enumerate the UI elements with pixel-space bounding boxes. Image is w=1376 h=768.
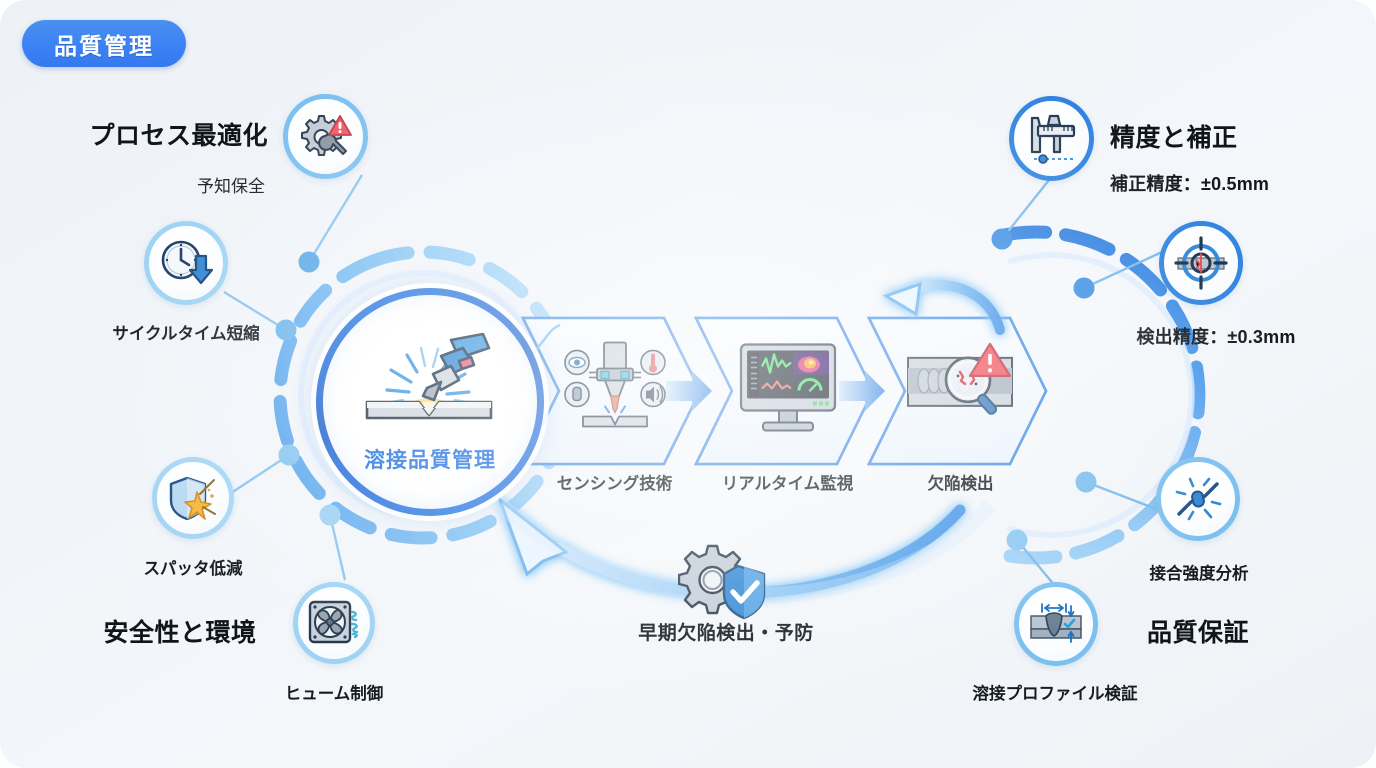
left-node-label-2: スパッタ低減 bbox=[144, 555, 243, 579]
satellite-detection-target[interactable] bbox=[1159, 221, 1243, 305]
feedback-node[interactable] bbox=[678, 544, 770, 622]
infographic-canvas: 品質管理 bbox=[0, 0, 1376, 768]
monitor-dashboard-icon bbox=[735, 341, 841, 437]
gear-shield-check-icon bbox=[678, 544, 770, 622]
right-heading-quality: 品質保証 bbox=[1147, 613, 1249, 649]
left-node-label-0: 予知保全 bbox=[197, 172, 265, 197]
crosshair-target-icon bbox=[1172, 234, 1230, 292]
right-node-label-chain: 接合強度分析 bbox=[1150, 560, 1249, 584]
satellite-weld-profile[interactable] bbox=[1014, 582, 1098, 666]
satellite-predictive-maintenance[interactable] bbox=[283, 94, 368, 179]
category-badge-label: 品質管理 bbox=[54, 27, 154, 61]
left-heading-safety: 安全性と環境 bbox=[103, 613, 256, 649]
sensor-head-icon bbox=[561, 338, 669, 434]
caliper-icon bbox=[1024, 112, 1080, 166]
flow-label-defect: 欠陥検出 bbox=[928, 470, 994, 494]
left-node-label-1: サイクルタイム短縮 bbox=[112, 320, 259, 344]
satellite-spatter-reduction[interactable] bbox=[152, 457, 234, 539]
fan-fume-icon bbox=[306, 598, 362, 648]
weld-profile-icon bbox=[1027, 598, 1085, 650]
left-heading-process: プロセス最適化 bbox=[89, 116, 268, 152]
flow-step-defect-detection[interactable]: 欠陥検出 bbox=[875, 318, 1046, 464]
feedback-label: 早期欠陥検出・予防 bbox=[638, 618, 814, 645]
right-node-label-profile: 溶接プロファイル検証 bbox=[973, 680, 1138, 704]
spec-correction-accuracy: 補正精度：±0.5mm bbox=[1110, 170, 1269, 196]
gear-wrench-alert-icon bbox=[299, 110, 353, 164]
hub-label: 溶接品質管理 bbox=[364, 444, 496, 474]
chain-link-icon bbox=[1171, 472, 1225, 526]
satellite-accuracy-caliper[interactable] bbox=[1009, 96, 1094, 181]
flow-step-monitoring[interactable]: リアルタイム監視 bbox=[702, 318, 873, 464]
flow-label-monitoring: リアルタイム監視 bbox=[722, 470, 854, 494]
spec-detection-accuracy: 検出精度：±0.3mm bbox=[1136, 323, 1295, 349]
central-hub[interactable]: 溶接品質管理 bbox=[316, 288, 544, 516]
satellite-joint-strength[interactable] bbox=[1156, 457, 1240, 541]
flow-label-sensing: センシング技術 bbox=[557, 470, 673, 494]
welding-torch-icon bbox=[355, 330, 505, 442]
left-node-label-3: ヒューム制御 bbox=[285, 680, 384, 704]
clock-down-arrow-icon bbox=[158, 236, 214, 290]
magnifier-defect-icon bbox=[906, 342, 1016, 428]
satellite-cycle-time[interactable] bbox=[144, 221, 228, 305]
satellite-fume-control[interactable] bbox=[293, 582, 375, 664]
right-heading-accuracy: 精度と補正 bbox=[1110, 118, 1238, 154]
shield-spark-icon bbox=[167, 472, 219, 524]
category-badge[interactable]: 品質管理 bbox=[22, 20, 186, 67]
flow-step-sensing[interactable]: センシング技術 bbox=[529, 318, 700, 464]
